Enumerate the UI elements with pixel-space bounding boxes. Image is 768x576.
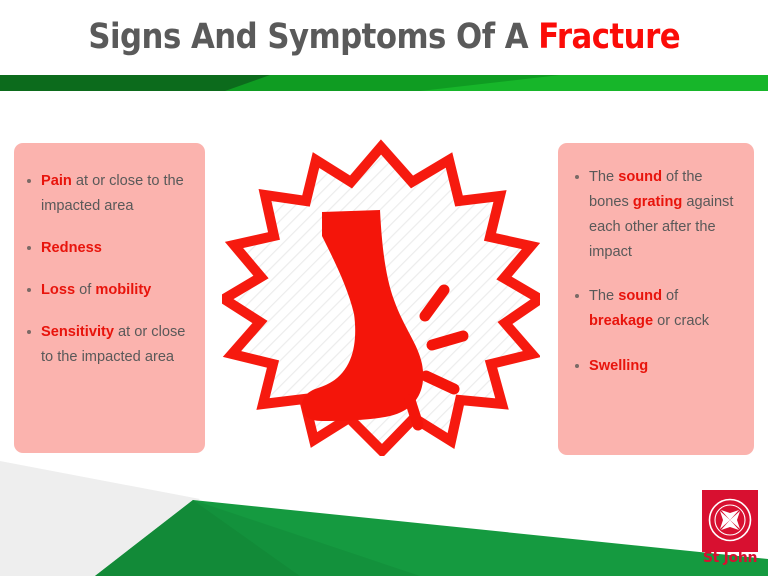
body-text: The	[589, 288, 618, 304]
band-dark-segment	[0, 75, 270, 91]
page-title-main: Signs And Symptoms Of A	[88, 17, 538, 57]
body-text: or crack	[653, 313, 709, 329]
list-item: Pain at or close to the impacted area	[22, 169, 191, 219]
symptom-list-left: Pain at or close to the impacted areaRed…	[22, 169, 191, 371]
maltese-cross-icon	[708, 498, 752, 542]
emphasis-text: sound	[618, 169, 662, 185]
list-item: The sound of breakage or crack	[570, 284, 744, 334]
page-title-accent: Fracture	[538, 17, 680, 57]
footer-decoration	[0, 455, 768, 576]
body-text: of	[75, 282, 95, 298]
header-green-band	[0, 75, 768, 91]
emphasis-text: Redness	[41, 240, 102, 256]
fracture-foot-icon	[222, 138, 540, 456]
symptoms-panel-right: The sound of the bones grating against e…	[558, 143, 754, 455]
list-item: Redness	[22, 236, 191, 261]
body-text: of	[662, 288, 678, 304]
list-item: Sensitivity at or close to the impacted …	[22, 320, 191, 370]
emphasis-text: breakage	[589, 313, 653, 329]
body-text: The	[589, 169, 618, 185]
logo-wordmark: St John	[702, 550, 758, 566]
st-john-logo: St John	[702, 490, 758, 572]
symptom-list-right: The sound of the bones grating against e…	[570, 165, 744, 379]
emphasis-text: Sensitivity	[41, 324, 114, 340]
emphasis-text: Swelling	[589, 358, 648, 374]
symptoms-panel-left: Pain at or close to the impacted areaRed…	[14, 143, 205, 453]
emphasis-text: sound	[618, 288, 662, 304]
emphasis-text: grating	[633, 194, 682, 210]
list-item: Loss of mobility	[22, 278, 191, 303]
emphasis-text: Loss	[41, 282, 75, 298]
list-item: Swelling	[570, 354, 744, 379]
slide-root: Signs And Symptoms Of A Fracture Pain at…	[0, 0, 768, 576]
emphasis-text: mobility	[95, 282, 151, 298]
page-title: Signs And Symptoms Of A Fracture	[0, 8, 768, 66]
list-item: The sound of the bones grating against e…	[570, 165, 744, 265]
emphasis-text: Pain	[41, 173, 72, 189]
page-title-text: Signs And Symptoms Of A Fracture	[88, 17, 680, 57]
